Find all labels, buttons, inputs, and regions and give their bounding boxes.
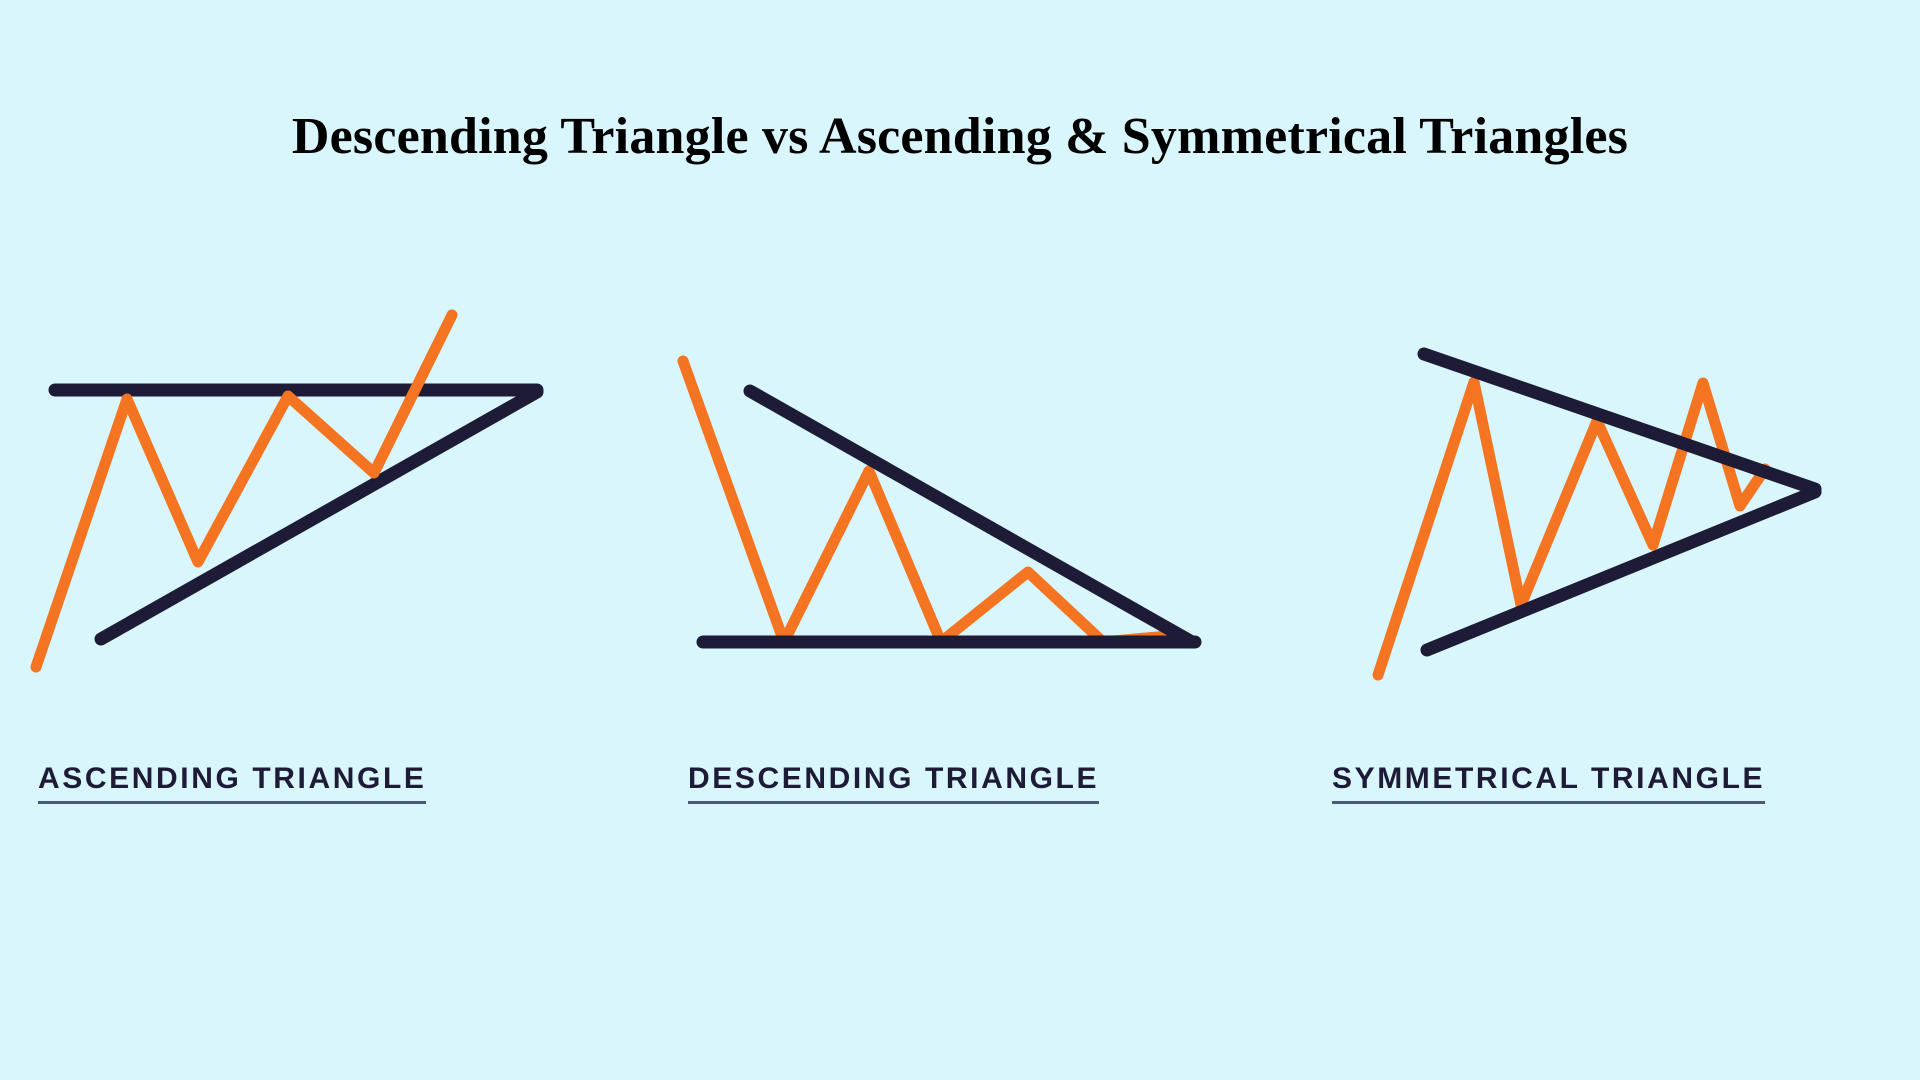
descending-price-zigzag (683, 361, 1178, 642)
symmetrical-support-trendline (1427, 492, 1815, 650)
descending-resistance-trendline (750, 391, 1192, 642)
triangle-patterns-diagram: ASCENDING TRIANGLE DESCENDING TRIANGLE S… (0, 0, 1920, 1080)
caption-symmetrical-triangle-text: SYMMETRICAL TRIANGLE (1332, 762, 1765, 804)
figure-symmetrical-triangle (1378, 354, 1815, 675)
page-root: Descending Triangle vs Ascending & Symme… (0, 0, 1920, 1080)
figure-ascending-triangle (36, 315, 537, 667)
caption-ascending-triangle: ASCENDING TRIANGLE (38, 762, 426, 804)
caption-ascending-triangle-text: ASCENDING TRIANGLE (38, 762, 426, 804)
chart-canvas (0, 0, 1920, 1080)
symmetrical-price-zigzag (1378, 382, 1765, 675)
caption-symmetrical-triangle: SYMMETRICAL TRIANGLE (1332, 762, 1765, 804)
caption-descending-triangle: DESCENDING TRIANGLE (688, 762, 1099, 804)
ascending-price-zigzag (36, 315, 452, 667)
caption-descending-triangle-text: DESCENDING TRIANGLE (688, 762, 1099, 804)
figure-descending-triangle (683, 361, 1195, 642)
